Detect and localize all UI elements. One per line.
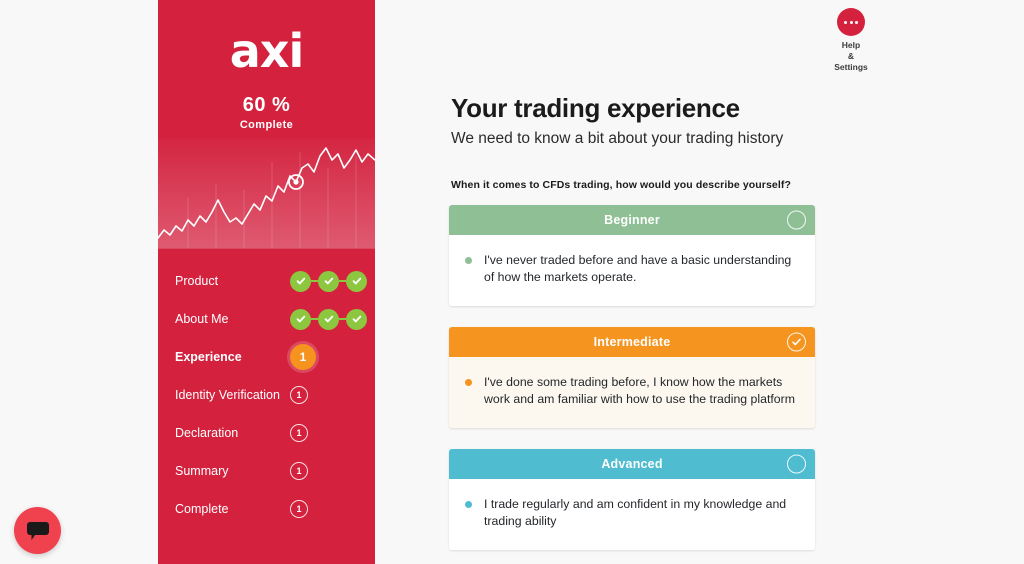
dot: [844, 21, 847, 24]
sidebar-hero: axi 60 % Complete: [158, 0, 375, 248]
step-status-pending: 1: [288, 462, 361, 480]
option-header: Beginner: [449, 205, 815, 235]
step-label: Declaration: [170, 425, 288, 442]
step-badge: 1: [290, 424, 308, 442]
step-label: Summary: [170, 463, 288, 480]
chat-widget-button[interactable]: [14, 507, 61, 554]
check-icon: [318, 309, 339, 330]
step-connector: [311, 280, 318, 282]
option-body: I've done some trading before, I know ho…: [449, 357, 815, 428]
step-connector: [311, 318, 318, 320]
main-content: Your trading experience We need to know …: [375, 0, 1024, 564]
step-label: Identity Verification: [170, 387, 288, 404]
step-badge: 1: [290, 500, 308, 518]
onboarding-page: axi 60 % Complete Product: [0, 0, 1024, 564]
bullet-icon: [465, 501, 472, 508]
check-icon: [290, 271, 311, 292]
logo-text: axi: [230, 28, 303, 74]
dot: [850, 21, 853, 24]
step-connector: [339, 318, 346, 320]
option-card-intermediate[interactable]: Intermediate I've done some trading befo…: [449, 327, 815, 428]
option-header: Intermediate: [449, 327, 815, 357]
option-body: I've never traded before and have a basi…: [449, 235, 815, 306]
radio-unselected-icon[interactable]: [787, 211, 806, 230]
help-line-1: Help: [815, 40, 887, 51]
help-line-3: Settings: [815, 62, 887, 73]
chat-bubble-icon: [26, 520, 50, 542]
bullet-icon: [465, 379, 472, 386]
step-list: Product About Me: [158, 262, 375, 528]
step-label: Complete: [170, 501, 288, 518]
step-status-done: [288, 309, 367, 330]
check-icon: [318, 271, 339, 292]
question-label: When it comes to CFDs trading, how would…: [451, 179, 791, 191]
sidebar-step-experience[interactable]: Experience 1: [170, 338, 361, 376]
step-status-current: 1: [288, 344, 361, 370]
sidebar-step-about-me[interactable]: About Me: [170, 300, 361, 338]
sidebar-step-summary[interactable]: Summary 1: [170, 452, 361, 490]
progress-label: Complete: [158, 119, 375, 131]
sidebar-divider: [158, 248, 375, 249]
option-description: I trade regularly and am confident in my…: [484, 496, 797, 530]
step-badge: 1: [290, 462, 308, 480]
step-label: About Me: [170, 311, 288, 328]
sidebar-step-declaration[interactable]: Declaration 1: [170, 414, 361, 452]
sidebar-step-complete[interactable]: Complete 1: [170, 490, 361, 528]
page-title: Your trading experience: [451, 93, 740, 124]
step-status-done: [288, 271, 367, 292]
option-description: I've done some trading before, I know ho…: [484, 374, 797, 408]
radio-unselected-icon[interactable]: [787, 455, 806, 474]
option-card-beginner[interactable]: Beginner I've never traded before and ha…: [449, 205, 815, 306]
step-badge: 1: [290, 386, 308, 404]
step-status-pending: 1: [288, 386, 361, 404]
option-card-advanced[interactable]: Advanced I trade regularly and am confid…: [449, 449, 815, 550]
check-icon: [346, 309, 367, 330]
option-title: Intermediate: [594, 335, 671, 349]
sidebar-step-identity-verification[interactable]: Identity Verification 1: [170, 376, 361, 414]
step-badge: 1: [290, 344, 316, 370]
check-icon: [346, 271, 367, 292]
progress-percent: 60 %: [158, 94, 375, 117]
progress-trend-chart: [158, 138, 375, 248]
sidebar: axi 60 % Complete Product: [158, 0, 375, 564]
help-line-2: &: [815, 51, 887, 62]
help-settings-label: Help & Settings: [815, 40, 887, 73]
page-subtitle: We need to know a bit about your trading…: [451, 130, 783, 148]
sidebar-step-product[interactable]: Product: [170, 262, 361, 300]
radio-selected-icon[interactable]: [787, 333, 806, 352]
option-title: Advanced: [601, 457, 662, 471]
experience-options: Beginner I've never traded before and ha…: [449, 205, 815, 564]
option-header: Advanced: [449, 449, 815, 479]
help-settings-widget[interactable]: Help & Settings: [815, 8, 887, 73]
check-icon: [290, 309, 311, 330]
logo: axi: [158, 0, 375, 74]
step-status-pending: 1: [288, 424, 361, 442]
option-title: Beginner: [604, 213, 660, 227]
dot: [855, 21, 858, 24]
step-label: Product: [170, 273, 288, 290]
step-label: Experience: [170, 349, 288, 366]
step-connector: [339, 280, 346, 282]
bullet-icon: [465, 257, 472, 264]
step-status-pending: 1: [288, 500, 361, 518]
ellipsis-icon[interactable]: [837, 8, 865, 36]
option-description: I've never traded before and have a basi…: [484, 252, 797, 286]
option-body: I trade regularly and am confident in my…: [449, 479, 815, 550]
